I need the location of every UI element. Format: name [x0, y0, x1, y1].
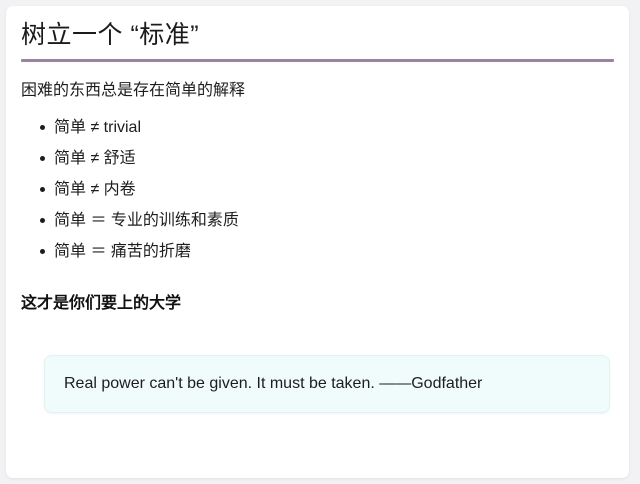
list-item: 简单 ＝ 专业的训练和素质 [21, 205, 614, 236]
list-item-label: 简单 ＝ 痛苦的折磨 [54, 243, 191, 260]
bullet-list: 简单 ≠ trivial 简单 ≠ 舒适 简单 ≠ 内卷 简单 ＝ 专业的训练和… [21, 112, 614, 267]
slide-content: 困难的东西总是存在简单的解释 简单 ≠ trivial 简单 ≠ 舒适 简单 ≠… [21, 80, 614, 315]
bullet-dot-icon [40, 218, 45, 223]
title-block: 树立一个 “标准” [21, 18, 614, 62]
lead-paragraph: 困难的东西总是存在简单的解释 [21, 80, 614, 102]
bullet-dot-icon [40, 156, 45, 161]
list-item-label: 简单 ≠ trivial [54, 119, 141, 136]
title-accent-rule [21, 59, 614, 62]
quote-callout: Real power can't be given. It must be ta… [44, 355, 610, 413]
bullet-dot-icon [40, 249, 45, 254]
quote-text: Real power can't be given. It must be ta… [45, 373, 496, 395]
bullet-dot-icon [40, 125, 45, 130]
emphasis-line: 这才是你们要上的大学 [21, 293, 614, 315]
list-item-label: 简单 ＝ 专业的训练和素质 [54, 212, 239, 229]
list-item: 简单 ≠ 内卷 [21, 174, 614, 205]
page-title: 树立一个 “标准” [21, 18, 614, 52]
slide-card: 树立一个 “标准” 困难的东西总是存在简单的解释 简单 ≠ trivial 简单… [6, 6, 629, 478]
list-item-label: 简单 ≠ 内卷 [54, 181, 136, 198]
list-item: 简单 ＝ 痛苦的折磨 [21, 236, 614, 267]
list-item: 简单 ≠ 舒适 [21, 143, 614, 174]
bullet-dot-icon [40, 187, 45, 192]
list-item: 简单 ≠ trivial [21, 112, 614, 143]
list-item-label: 简单 ≠ 舒适 [54, 150, 136, 167]
